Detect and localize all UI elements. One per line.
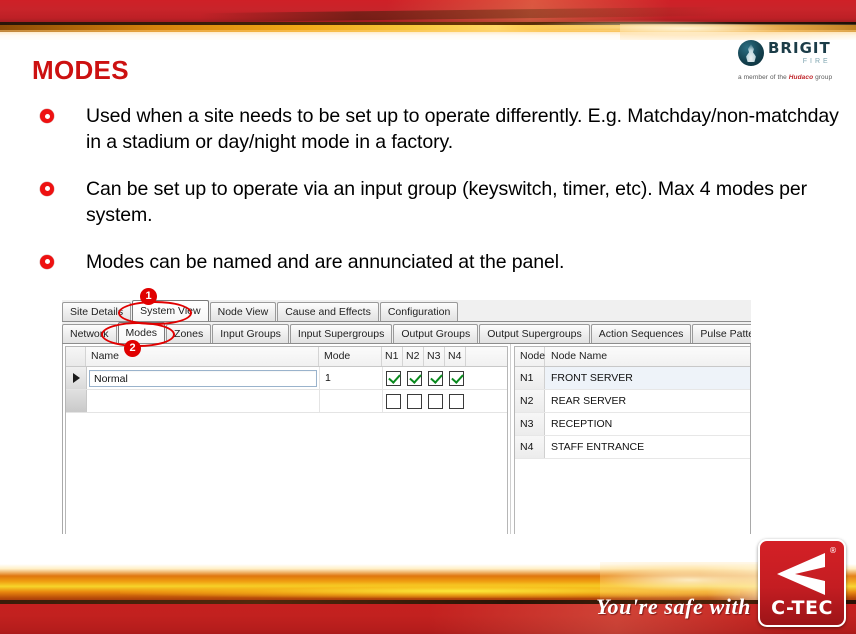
flame-in-circle-icon: [738, 40, 764, 66]
bullet-text: Used when a site needs to be set up to o…: [86, 104, 840, 156]
cell-node-n2[interactable]: [404, 367, 425, 389]
tab-input-supergroups[interactable]: Input Supergroups: [290, 324, 392, 343]
bullet-text: Modes can be named and are annunciated a…: [86, 250, 564, 276]
tab-node-view[interactable]: Node View: [210, 302, 277, 321]
secondary-tab-strip: Network Modes Zones Input Groups Input S…: [62, 322, 751, 344]
row-selector-cell[interactable]: [66, 390, 87, 412]
brigit-logo-sub: FIRE: [768, 58, 831, 65]
column-header-name[interactable]: Name: [86, 347, 319, 366]
bullet-text: Can be set up to operate via an input gr…: [86, 177, 840, 229]
application-screenshot: Site Details System View Node View Cause…: [62, 300, 751, 543]
list-item: Modes can be named and are annunciated a…: [40, 250, 840, 276]
column-header-n4[interactable]: N4: [445, 347, 466, 366]
cell-name[interactable]: [87, 390, 320, 412]
annotation-number-2: 2: [124, 340, 141, 357]
page-title: MODES: [32, 55, 129, 86]
footer-tagline: You're safe with: [596, 594, 751, 620]
nodes-grid: Node Node Name N1 FRONT SERVER N2 REAR S…: [512, 344, 750, 543]
tab-configuration[interactable]: Configuration: [380, 302, 458, 321]
slide: MODES BRIGIT FIRE a member of the Hudaco…: [0, 0, 856, 634]
tab-modes[interactable]: Modes: [118, 322, 166, 343]
registered-mark: ®: [829, 546, 837, 555]
cell-node-n1[interactable]: [383, 390, 404, 412]
column-header-n1[interactable]: N1: [382, 347, 403, 366]
tab-zones[interactable]: Zones: [166, 324, 211, 343]
column-header-node[interactable]: Node: [515, 347, 545, 366]
brigit-logo-member-line: a member of the Hudaco group: [738, 74, 842, 81]
tab-site-details[interactable]: Site Details: [62, 302, 131, 321]
top-banner-flare: [620, 24, 856, 40]
cell-node-n1[interactable]: [383, 367, 404, 389]
member-brand: Hudaco: [789, 74, 813, 81]
tab-pulse-patterns[interactable]: Pulse Patterns: [692, 324, 751, 343]
tab-output-groups[interactable]: Output Groups: [393, 324, 478, 343]
cell-name[interactable]: Normal: [87, 367, 320, 389]
modes-tab-panel: Name Mode N1 N2 N3 N4 Normal: [62, 344, 751, 543]
checkbox-n1-checked-icon[interactable]: [386, 371, 401, 386]
checkbox-n4-checked-icon[interactable]: [449, 371, 464, 386]
cell-node-id: N2: [515, 390, 545, 412]
member-prefix: a member of the: [738, 74, 789, 81]
checkbox-n2-checked-icon[interactable]: [407, 371, 422, 386]
column-header-n3[interactable]: N3: [424, 347, 445, 366]
table-row[interactable]: N4 STAFF ENTRANCE: [515, 436, 750, 459]
row-selector-cell[interactable]: [66, 367, 87, 389]
checkbox-n4-icon[interactable]: [449, 394, 464, 409]
cell-node-n3[interactable]: [425, 390, 446, 412]
primary-tab-strip: Site Details System View Node View Cause…: [62, 300, 751, 322]
cell-node-id: N4: [515, 436, 545, 458]
tab-network[interactable]: Network: [62, 324, 117, 343]
member-suffix: group: [813, 74, 832, 81]
tab-output-supergroups[interactable]: Output Supergroups: [479, 324, 590, 343]
ring-bullet-icon: [40, 109, 54, 123]
cell-node-n3[interactable]: [425, 367, 446, 389]
table-row[interactable]: [66, 390, 507, 413]
cell-node-name[interactable]: STAFF ENTRANCE: [545, 436, 750, 458]
cell-mode[interactable]: [320, 390, 383, 412]
table-row[interactable]: N1 FRONT SERVER: [515, 367, 750, 390]
bullet-list: Used when a site needs to be set up to o…: [40, 104, 840, 297]
column-header-selector[interactable]: [66, 347, 86, 366]
cell-node-name[interactable]: FRONT SERVER: [545, 367, 750, 389]
column-header-mode[interactable]: Mode: [319, 347, 382, 366]
checkbox-n3-checked-icon[interactable]: [428, 371, 443, 386]
annotation-number-1: 1: [140, 288, 157, 305]
tab-cause-and-effects[interactable]: Cause and Effects: [277, 302, 379, 321]
c-tec-brand-name: C-TEC: [760, 597, 844, 619]
c-tec-logo: ® C-TEC: [758, 539, 846, 627]
tab-action-sequences[interactable]: Action Sequences: [591, 324, 692, 343]
bottom-banner: You're safe with ® C-TEC: [0, 534, 856, 634]
checkbox-n1-icon[interactable]: [386, 394, 401, 409]
table-row[interactable]: N2 REAR SERVER: [515, 390, 750, 413]
list-item: Used when a site needs to be set up to o…: [40, 104, 840, 156]
modes-grid: Name Mode N1 N2 N3 N4 Normal: [63, 344, 511, 543]
column-header-n2[interactable]: N2: [403, 347, 424, 366]
list-item: Can be set up to operate via an input gr…: [40, 177, 840, 229]
cell-node-n2[interactable]: [404, 390, 425, 412]
cell-node-name[interactable]: REAR SERVER: [545, 390, 750, 412]
cell-node-n4[interactable]: [446, 390, 467, 412]
cell-node-n4[interactable]: [446, 367, 467, 389]
column-header-node-name[interactable]: Node Name: [545, 347, 750, 366]
top-banner: [0, 0, 856, 40]
brigit-logo: BRIGIT FIRE a member of the Hudaco group: [738, 40, 842, 90]
c-tec-chevron-icon: [773, 551, 827, 597]
ring-bullet-icon: [40, 182, 54, 196]
cell-node-id: N3: [515, 413, 545, 435]
tab-input-groups[interactable]: Input Groups: [212, 324, 289, 343]
row-pointer-icon: [73, 373, 80, 383]
checkbox-n2-icon[interactable]: [407, 394, 422, 409]
cell-node-id: N1: [515, 367, 545, 389]
nodes-grid-header: Node Node Name: [515, 347, 750, 367]
checkbox-n3-icon[interactable]: [428, 394, 443, 409]
ring-bullet-icon: [40, 255, 54, 269]
table-row[interactable]: N3 RECEPTION: [515, 413, 750, 436]
table-row[interactable]: Normal 1: [66, 367, 507, 390]
cell-mode[interactable]: 1: [320, 367, 383, 389]
brigit-logo-name: BRIGIT: [768, 41, 831, 56]
cell-node-name[interactable]: RECEPTION: [545, 413, 750, 435]
mode-name-input[interactable]: Normal: [89, 370, 317, 387]
